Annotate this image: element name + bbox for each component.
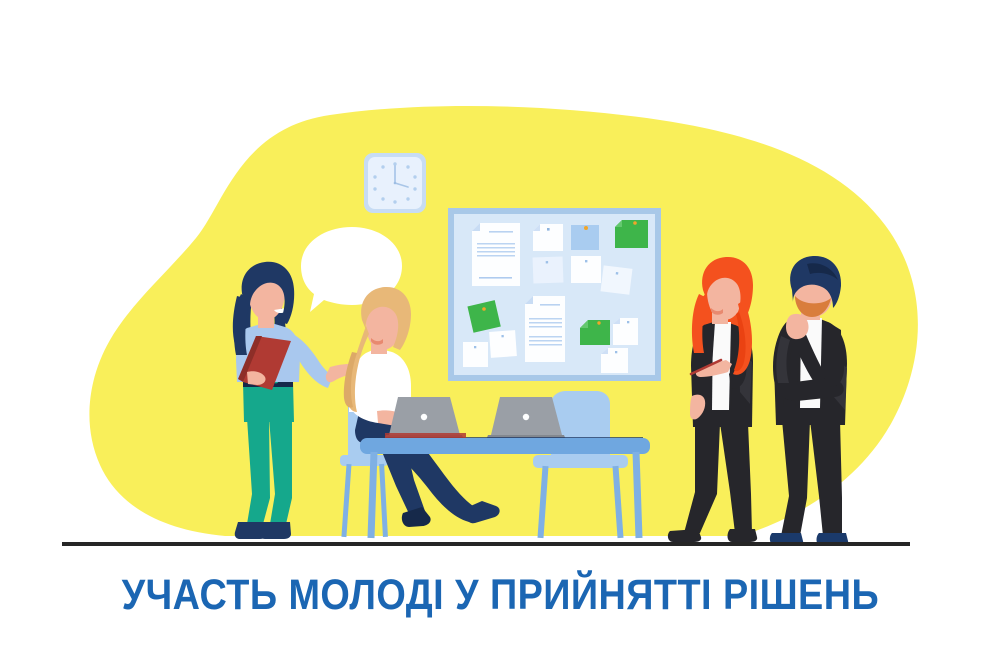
left-woman-shoe-front	[260, 522, 291, 539]
right-woman-shoe-back	[668, 529, 701, 542]
laptop-right-logo	[523, 414, 529, 420]
document-2-title-line	[540, 304, 560, 306]
illustration-canvas	[0, 0, 1000, 560]
laptop-left-logo	[421, 414, 427, 420]
board-note-white-6	[463, 342, 488, 367]
document-1-signature-line	[479, 277, 512, 279]
board-document-1	[472, 223, 520, 286]
note-white-7-pin	[627, 321, 629, 323]
document-1-title-line	[489, 231, 513, 233]
board-document-2	[525, 296, 565, 362]
right-woman-shoe-front	[728, 529, 758, 542]
laptop-left-reflection	[385, 433, 466, 438]
note-green-3-pin	[597, 321, 600, 324]
note-white-8-pin	[615, 351, 617, 353]
note-green-2-pin	[482, 307, 486, 311]
note-white-2-pin	[546, 261, 548, 263]
page-title: УЧАСТЬ МОЛОДІ У ПРИЙНЯТТІ РІШЕНЬ	[121, 571, 878, 620]
chair-right-seat	[533, 455, 628, 468]
note-white-5-page	[489, 330, 517, 358]
board-note-blue-1	[571, 225, 599, 250]
note-white-5-pin	[501, 335, 503, 337]
illustration-page: УЧАСТЬ МОЛОДІ У ПРИЙНЯТТІ РІШЕНЬ	[0, 0, 1000, 649]
board-note-white-7	[613, 318, 638, 345]
note-white-6-page	[463, 342, 488, 367]
ground-line	[62, 542, 910, 546]
note-blue-1-pin	[584, 226, 588, 230]
caption-bar: УЧАСТЬ МОЛОДІ У ПРИЙНЯТТІ РІШЕНЬ	[0, 565, 1000, 625]
board-note-green-3	[580, 320, 610, 345]
note-white-6-pin	[474, 346, 476, 348]
board-note-white-1	[533, 224, 563, 251]
note-white-4-page	[601, 265, 633, 294]
board-note-white-2	[533, 256, 564, 283]
board-note-white-5	[489, 330, 517, 358]
note-white-3-pin	[585, 260, 587, 262]
note-white-4-pin	[616, 272, 619, 275]
board-note-green-1	[615, 220, 648, 248]
note-white-1-pin	[547, 228, 550, 231]
board-note-white-3	[571, 256, 601, 283]
note-green-1-pin	[633, 221, 637, 225]
wall-clock	[364, 153, 426, 213]
note-white-2-page	[533, 256, 564, 283]
desk-top	[360, 438, 650, 454]
board-note-white-8	[601, 348, 628, 373]
bulletin-board	[448, 208, 661, 381]
board-note-white-4	[601, 265, 633, 294]
clock-center-dot	[394, 182, 397, 185]
document-2-page	[525, 296, 565, 362]
